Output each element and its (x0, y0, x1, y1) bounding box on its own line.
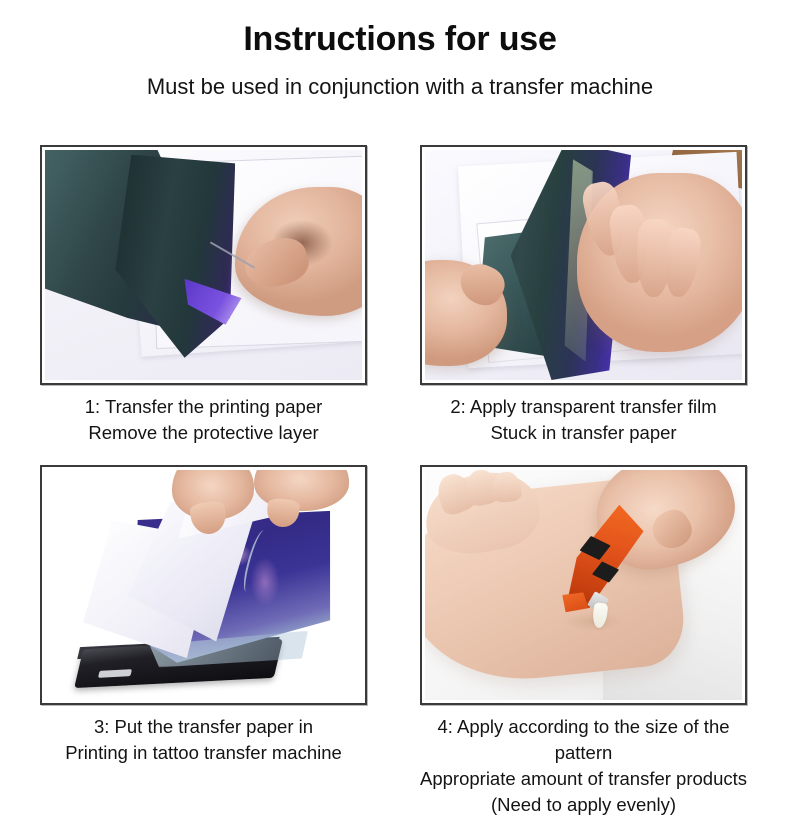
steps-grid: 1: Transfer the printing paper Remove th… (0, 145, 800, 819)
step-2-caption: 2: Apply transparent transfer film Stuck… (420, 394, 747, 447)
step-1-photo-inner (45, 150, 362, 380)
page-subtitle: Must be used in conjunction with a trans… (0, 73, 800, 102)
step-4: 4: Apply according to the size of the pa… (420, 465, 747, 819)
step-3-caption: 3: Put the transfer paper in Printing in… (40, 714, 367, 767)
page-header: Instructions for use Must be used in con… (0, 0, 800, 101)
step-4-photo (420, 465, 747, 705)
step-1-caption: 1: Transfer the printing paper Remove th… (40, 394, 367, 447)
step-3-photo (40, 465, 367, 705)
page-title: Instructions for use (0, 18, 800, 61)
step-1-photo (40, 145, 367, 385)
step-3-photo-inner (45, 470, 362, 700)
step-2-photo (420, 145, 747, 385)
step-3: 3: Put the transfer paper in Printing in… (40, 465, 367, 819)
step-1: 1: Transfer the printing paper Remove th… (40, 145, 367, 447)
step-4-photo-inner (425, 470, 742, 700)
step-2: 2: Apply transparent transfer film Stuck… (420, 145, 747, 447)
photo3-machine-slot (98, 669, 132, 678)
step-4-caption: 4: Apply according to the size of the pa… (420, 714, 747, 819)
step-2-photo-inner (425, 150, 742, 380)
